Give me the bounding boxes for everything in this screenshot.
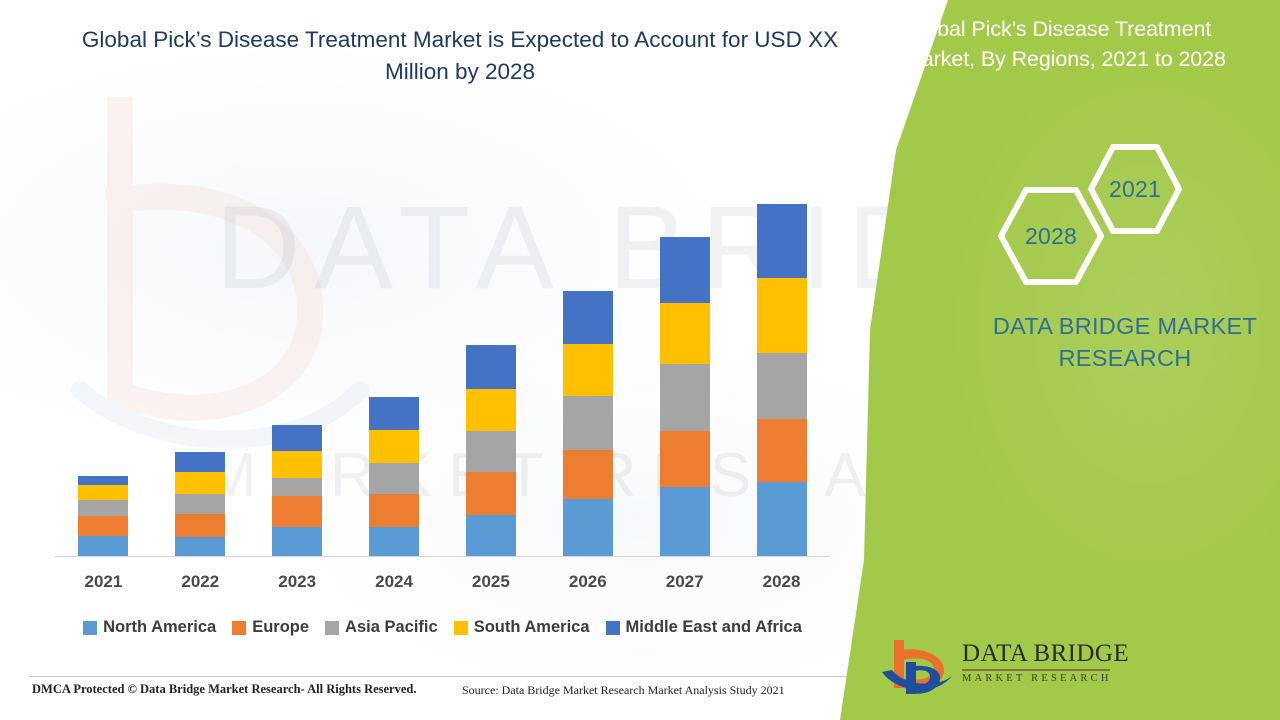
bar-segment[interactable]: [175, 472, 225, 494]
x-axis-label-2023: 2023: [249, 572, 346, 592]
hexagon-badge-2021-label: 2021: [1109, 176, 1161, 203]
legend-label: Asia Pacific: [345, 618, 438, 637]
stacked-bar-2025[interactable]: [466, 345, 516, 556]
legend-label: Middle East and Africa: [626, 618, 802, 637]
x-axis-label-2024: 2024: [346, 572, 443, 592]
panel-title: Global Pick’s Disease Treatment Market, …: [904, 14, 1276, 74]
x-axis-label-2027: 2027: [636, 572, 733, 592]
stacked-bar-2022[interactable]: [175, 452, 225, 556]
bar-segment[interactable]: [660, 303, 710, 364]
footer-divider: [30, 676, 850, 677]
legend-item[interactable]: North America: [83, 618, 216, 637]
stacked-bar-2026[interactable]: [563, 291, 613, 556]
legend-label: South America: [474, 618, 590, 637]
legend-item[interactable]: Middle East and Africa: [606, 618, 802, 637]
bar-segment[interactable]: [466, 389, 516, 431]
bar-segment[interactable]: [272, 451, 322, 478]
bar-segment[interactable]: [369, 494, 419, 527]
stacked-bar-2028[interactable]: [757, 204, 807, 556]
hexagon-badge-2028: 2028: [996, 186, 1106, 286]
logo-divider: [962, 669, 1110, 671]
bar-segment[interactable]: [563, 499, 613, 556]
bar-segment[interactable]: [175, 452, 225, 472]
bar-segment[interactable]: [466, 472, 516, 515]
logo-subtitle: MARKET RESEARCH: [962, 673, 1112, 684]
x-axis-line: [55, 556, 830, 557]
x-axis-label-2022: 2022: [152, 572, 249, 592]
logo-title: DATA BRIDGE: [962, 640, 1112, 668]
panel-brand-text: DATA BRIDGE MARKET RESEARCH: [960, 310, 1280, 374]
bar-segment[interactable]: [369, 527, 419, 556]
data-bridge-logo: DATA BRIDGE MARKET RESEARCH: [880, 636, 1110, 700]
bar-segment[interactable]: [563, 450, 613, 499]
legend-swatch-icon: [606, 621, 620, 635]
bar-slot: [539, 156, 636, 556]
chart-infographic: Global Pick’s Disease Treatment Market i…: [0, 0, 1280, 720]
bar-segment[interactable]: [757, 278, 807, 353]
bar-segment[interactable]: [175, 537, 225, 556]
legend-swatch-icon: [232, 621, 246, 635]
bar-segment[interactable]: [175, 514, 225, 537]
bar-segment[interactable]: [78, 516, 128, 536]
bar-segment[interactable]: [757, 204, 807, 278]
bar-segment[interactable]: [78, 536, 128, 556]
bar-segment[interactable]: [175, 494, 225, 514]
page-title: Global Pick’s Disease Treatment Market i…: [60, 24, 860, 88]
bar-segment[interactable]: [563, 396, 613, 450]
legend-label: North America: [103, 618, 216, 637]
x-axis-label-2025: 2025: [443, 572, 540, 592]
legend-swatch-icon: [325, 621, 339, 635]
bar-segment[interactable]: [78, 476, 128, 485]
stacked-bar-2023[interactable]: [272, 425, 322, 556]
bar-segment[interactable]: [272, 496, 322, 527]
bar-segment[interactable]: [369, 397, 419, 430]
bar-slot: [733, 156, 830, 556]
bar-segment[interactable]: [660, 431, 710, 487]
bar-segment[interactable]: [757, 482, 807, 556]
stacked-bar-2024[interactable]: [369, 397, 419, 556]
stacked-bar-2027[interactable]: [660, 237, 710, 556]
bar-segment[interactable]: [369, 463, 419, 494]
legend-item[interactable]: South America: [454, 618, 590, 637]
bar-slot: [249, 156, 346, 556]
plot-area: [55, 150, 830, 557]
bar-segment[interactable]: [660, 237, 710, 303]
x-axis-label-2021: 2021: [55, 572, 152, 592]
bar-segment[interactable]: [272, 478, 322, 496]
bar-segment[interactable]: [369, 430, 419, 463]
x-axis-labels: 20212022202320242025202620272028: [55, 572, 830, 592]
stacked-bar-chart: [55, 150, 830, 560]
logo-wordmark: DATA BRIDGE MARKET RESEARCH: [962, 640, 1112, 684]
bar-segment[interactable]: [466, 515, 516, 556]
hexagon-badge-2028-label: 2028: [1025, 223, 1077, 250]
footer-source: Source: Data Bridge Market Research Mark…: [462, 683, 785, 698]
x-axis-label-2028: 2028: [733, 572, 830, 592]
x-axis-label-2026: 2026: [539, 572, 636, 592]
bar-segment[interactable]: [78, 485, 128, 500]
bar-segment[interactable]: [757, 353, 807, 419]
legend-swatch-icon: [83, 621, 97, 635]
data-bridge-b-mark-icon: [880, 636, 958, 700]
bar-slot: [55, 156, 152, 556]
bar-segment[interactable]: [466, 431, 516, 472]
bar-segment[interactable]: [563, 291, 613, 344]
chart-legend: North AmericaEuropeAsia PacificSouth Ame…: [55, 618, 830, 637]
bar-slot: [346, 156, 443, 556]
bar-segment[interactable]: [272, 425, 322, 451]
bar-segment[interactable]: [466, 345, 516, 389]
bar-slot: [443, 156, 540, 556]
bar-segment[interactable]: [660, 364, 710, 431]
legend-item[interactable]: Asia Pacific: [325, 618, 438, 637]
bar-segment[interactable]: [78, 500, 128, 516]
bar-slot: [152, 156, 249, 556]
legend-swatch-icon: [454, 621, 468, 635]
footer-copyright: DMCA Protected © Data Bridge Market Rese…: [32, 682, 417, 697]
bar-segment[interactable]: [757, 419, 807, 482]
bar-segment[interactable]: [563, 344, 613, 396]
bar-segment[interactable]: [660, 487, 710, 556]
bar-slot: [636, 156, 733, 556]
bar-group: [55, 156, 830, 556]
bar-segment[interactable]: [272, 527, 322, 556]
stacked-bar-2021[interactable]: [78, 476, 128, 556]
legend-item[interactable]: Europe: [232, 618, 309, 637]
legend-label: Europe: [252, 618, 309, 637]
